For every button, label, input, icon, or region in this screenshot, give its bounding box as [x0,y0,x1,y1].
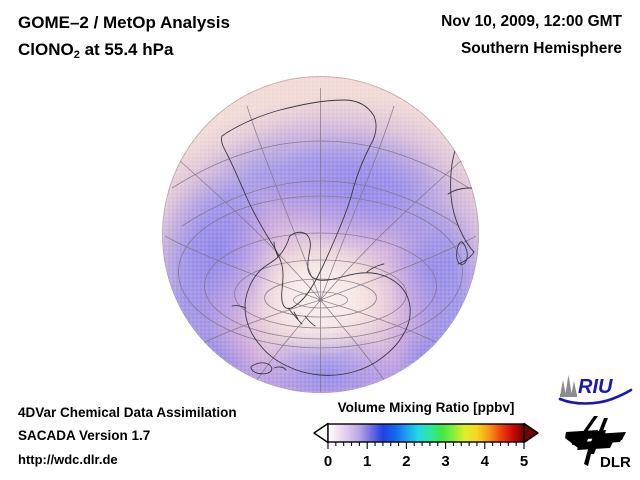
pressure-level-label: at 55.4 hPa [80,40,174,59]
colorbar-scale: 012345 [306,421,546,471]
figure-canvas: GOME–2 / MetOp Analysis ClONO2 at 55.4 h… [0,0,640,480]
colorbar-tick-label: 1 [363,453,371,470]
colorbar-tick-label: 3 [441,453,449,470]
colorbar-tick-label: 5 [520,453,528,470]
dlr-logo: DLR [564,414,636,472]
colorbar-ticks [328,442,524,449]
colorbar-min-arrow [314,424,328,443]
dlr-wordmark: DLR [600,454,631,471]
colorbar: Volume Mixing Ratio [ppbv] 012345 [306,400,546,472]
version-label: SACADA Version 1.7 [18,428,150,443]
colorbar-title: Volume Mixing Ratio [ppbv] [306,400,546,415]
species-level-subtitle: ClONO2 at 55.4 hPa [18,40,173,61]
riu-logo: RIU [556,372,634,406]
globe-map [162,76,479,393]
colorbar-gradient [328,424,524,442]
method-label: 4DVar Chemical Data Assimilation [18,405,237,420]
colorbar-tick-label: 4 [481,453,490,470]
colorbar-tick-labels: 012345 [324,453,528,470]
globe-limb-shading [162,76,479,393]
riu-wordmark: RIU [578,376,613,398]
species-label: ClONO [18,40,74,59]
page-title: GOME–2 / MetOp Analysis [18,13,230,33]
colorbar-max-arrow [524,424,538,443]
colorbar-tick-label: 0 [324,453,332,470]
region-label: Southern Hemisphere [461,40,622,58]
timestamp-label: Nov 10, 2009, 12:00 GMT [441,13,622,31]
url-label[interactable]: http://wdc.dlr.de [18,452,118,467]
riu-towers-icon [560,375,577,397]
colorbar-tick-label: 2 [402,453,410,470]
